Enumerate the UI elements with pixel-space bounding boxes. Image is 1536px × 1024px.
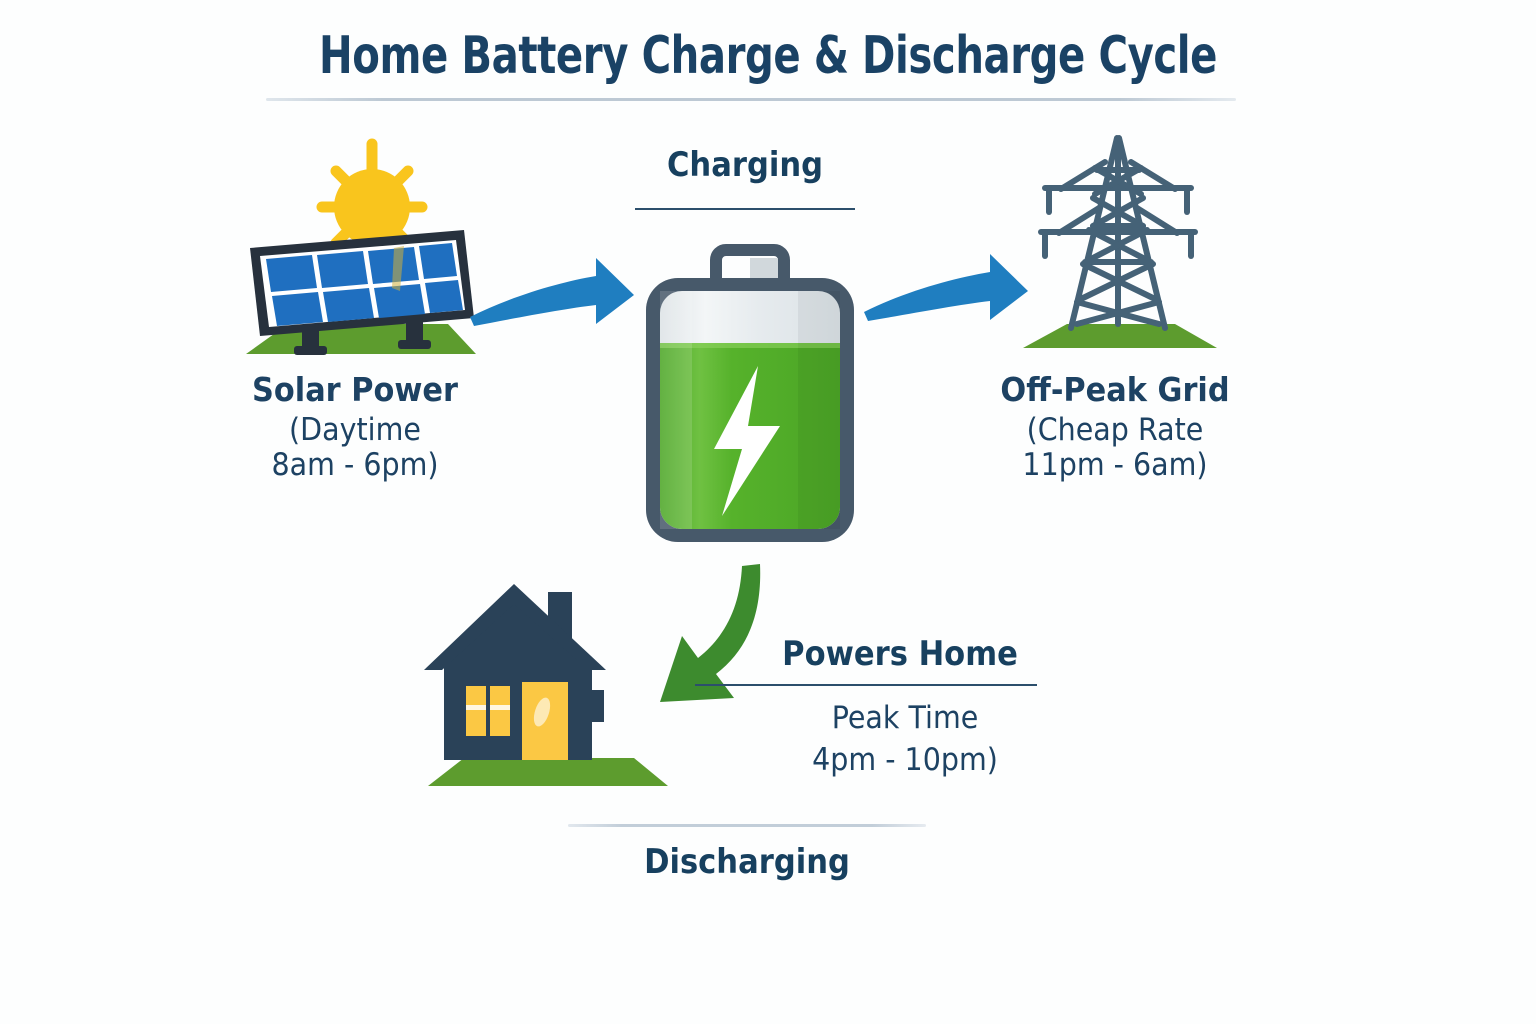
transmission-tower-icon xyxy=(1005,126,1235,354)
solar-panel-with-sun-icon xyxy=(228,128,490,360)
solar-caption: Solar Power (Daytime 8am - 6pm) xyxy=(205,372,505,482)
peak-time-caption: Peak Time 4pm - 10pm) xyxy=(735,698,1075,782)
peak-time-line-2: 4pm - 10pm) xyxy=(749,740,1062,782)
powers-home-divider xyxy=(695,684,1037,686)
title-divider xyxy=(266,98,1236,101)
charging-label: Charging xyxy=(592,145,898,185)
grid-caption: Off-Peak Grid (Cheap Rate 11pm - 6am) xyxy=(965,372,1265,482)
solar-title: Solar Power xyxy=(217,372,493,409)
grid-sub-2: 11pm - 6am) xyxy=(977,448,1253,483)
grid-sub-1: (Cheap Rate xyxy=(977,413,1253,448)
battery-with-lightning-bolt-icon xyxy=(638,244,862,554)
infographic-canvas: Home Battery Charge & Discharge Cycle xyxy=(0,0,1536,1024)
solar-to-battery-arrow xyxy=(462,252,642,332)
discharging-divider xyxy=(568,824,926,827)
grid-title: Off-Peak Grid xyxy=(977,372,1253,409)
discharging-label: Discharging xyxy=(594,842,900,882)
charging-divider xyxy=(635,208,855,210)
house-icon xyxy=(418,562,698,792)
page-title: Home Battery Charge & Discharge Cycle xyxy=(108,26,1429,86)
solar-sub-1: (Daytime xyxy=(217,413,493,448)
powers-home-label: Powers Home xyxy=(747,634,1053,674)
peak-time-line-1: Peak Time xyxy=(749,698,1062,740)
solar-sub-2: 8am - 6pm) xyxy=(217,448,493,483)
